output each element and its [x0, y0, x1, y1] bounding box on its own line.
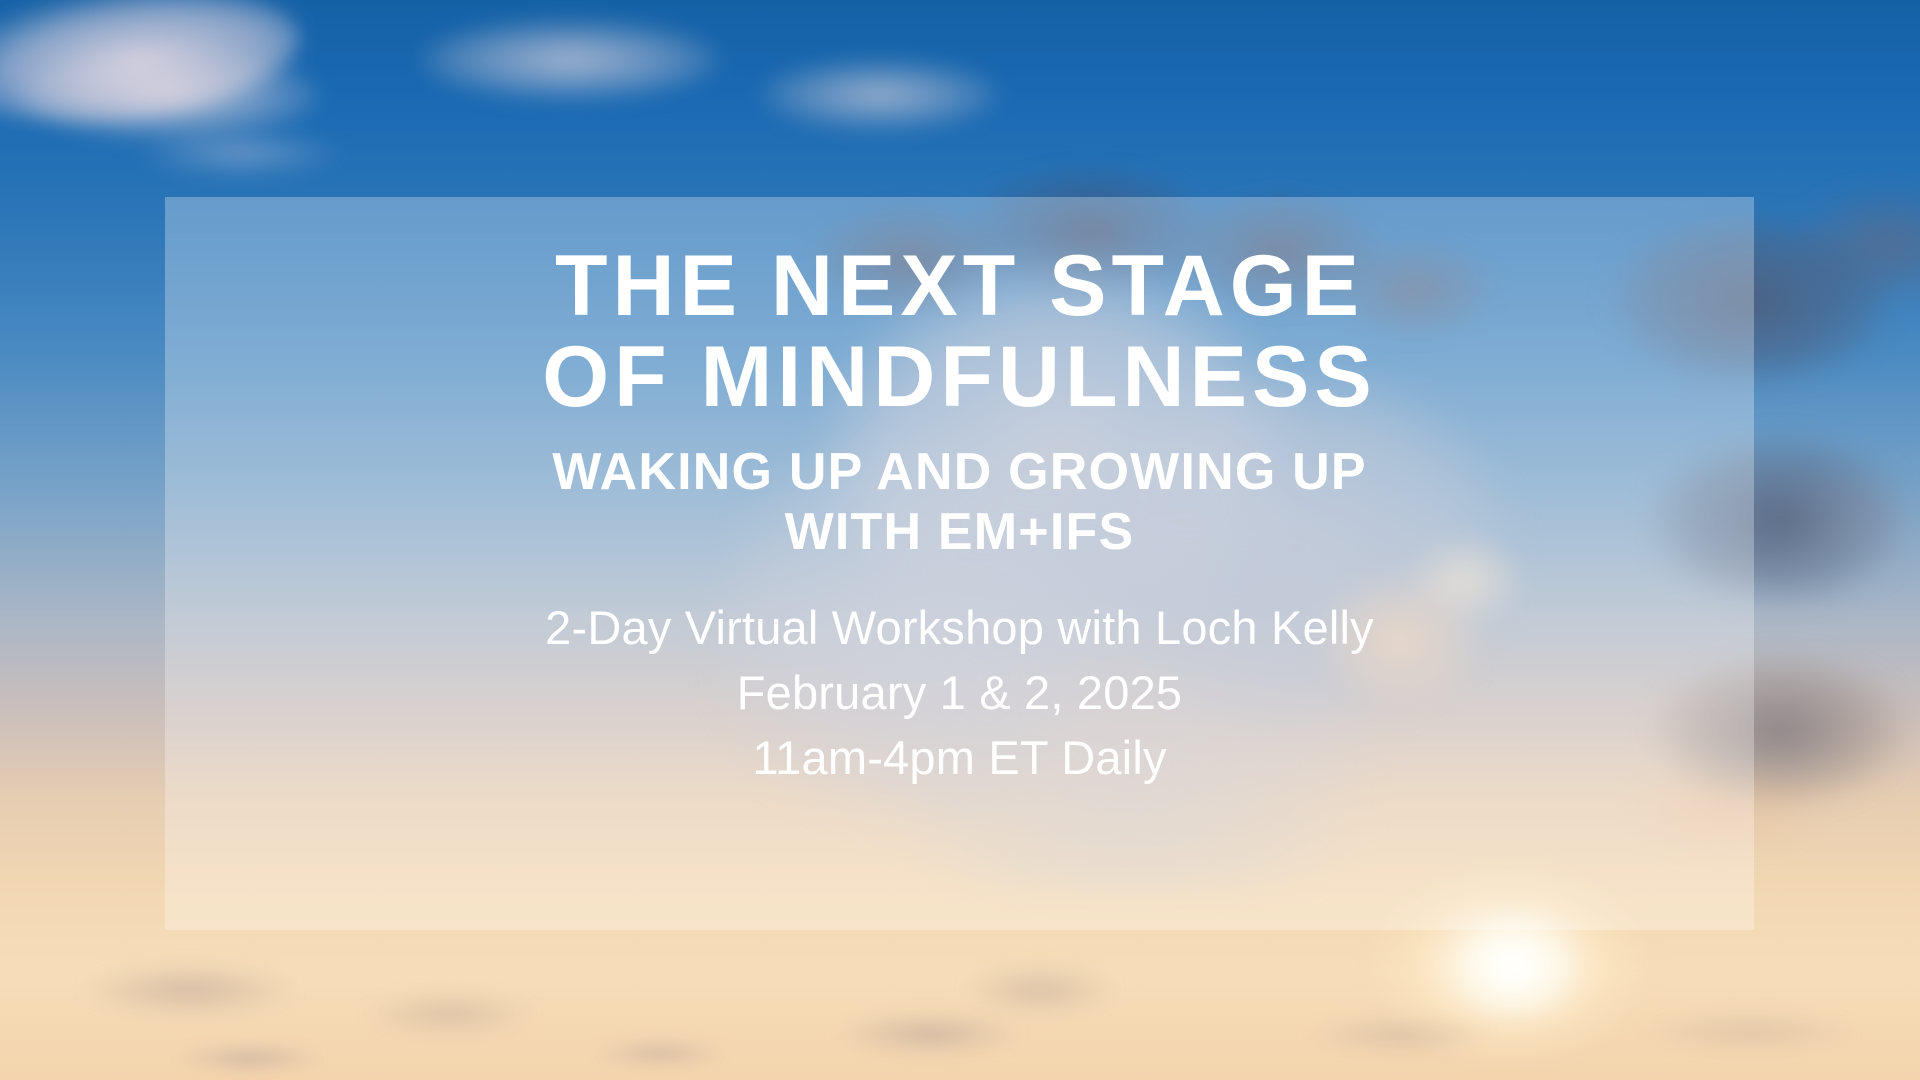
- page-subtitle: WAKING UP AND GROWING UP WITH EM+IFS: [552, 443, 1367, 562]
- event-details: 2-Day Virtual Workshop with Loch Kelly F…: [545, 596, 1374, 791]
- event-time: 11am-4pm ET Daily: [545, 726, 1374, 791]
- page-title: THE NEXT STAGE OF MINDFULNESS: [542, 241, 1376, 423]
- subtitle-line-1: WAKING UP AND GROWING UP: [552, 443, 1367, 502]
- title-line-2: OF MINDFULNESS: [542, 332, 1376, 423]
- title-line-1: THE NEXT STAGE: [542, 241, 1376, 332]
- event-format-and-host: 2-Day Virtual Workshop with Loch Kelly: [545, 596, 1374, 661]
- event-date: February 1 & 2, 2025: [545, 661, 1374, 726]
- subtitle-line-2: WITH EM+IFS: [552, 503, 1367, 562]
- content-panel: THE NEXT STAGE OF MINDFULNESS WAKING UP …: [165, 197, 1754, 930]
- sun-core: [1455, 915, 1575, 1015]
- promo-banner: THE NEXT STAGE OF MINDFULNESS WAKING UP …: [0, 0, 1920, 1080]
